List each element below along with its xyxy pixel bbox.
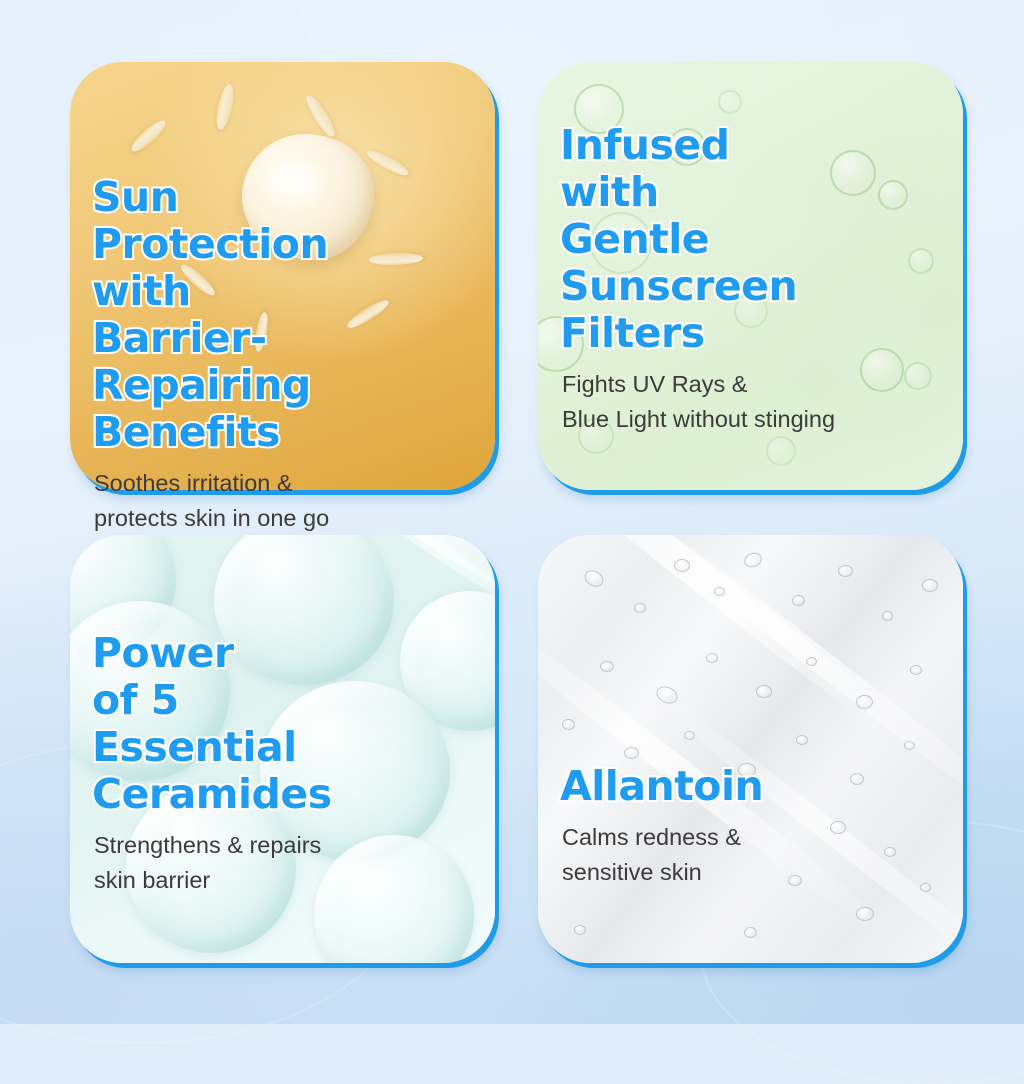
feature-card-grid: Sun Protection with Barrier-Repairing Be… — [0, 0, 1024, 1024]
card-text-block: Allantoin Calms redness & sensitive skin — [560, 763, 943, 890]
card-face — [538, 535, 963, 963]
card-text-block: Sun Protection with Barrier-Repairing Be… — [92, 174, 475, 536]
bubble-icon — [766, 436, 796, 466]
droplet-icon — [856, 695, 873, 709]
droplet-icon — [922, 579, 938, 592]
droplet-icon — [634, 603, 646, 613]
feature-card-sun-protection[interactable]: Sun Protection with Barrier-Repairing Be… — [70, 62, 495, 490]
bubble-icon — [718, 90, 742, 114]
card-subline: Soothes irritation & protects skin in on… — [94, 466, 475, 536]
droplet-icon — [742, 550, 764, 569]
feature-card-ceramides[interactable]: Power of 5 Essential Ceramides Strengthe… — [70, 535, 495, 963]
droplet-icon — [910, 665, 922, 675]
droplet-icon — [624, 747, 639, 759]
droplet-icon — [792, 595, 805, 606]
gel-streak — [538, 535, 932, 762]
card-headline: Infused with Gentle Sunscreen Filters — [560, 122, 943, 357]
card-headline: Power of 5 Essential Ceramides — [92, 630, 475, 818]
droplet-icon — [856, 907, 874, 921]
card-subline: Calms redness & sensitive skin — [562, 820, 943, 890]
feature-card-allantoin[interactable]: Allantoin Calms redness & sensitive skin — [538, 535, 963, 963]
droplet-icon — [806, 657, 817, 666]
droplet-icon — [744, 927, 757, 938]
droplet-icon — [582, 567, 607, 590]
droplet-icon — [706, 653, 718, 663]
cream-ray-icon — [128, 116, 169, 155]
droplet-icon — [574, 925, 586, 935]
cream-ray-icon — [302, 92, 338, 140]
card-headline: Allantoin — [560, 763, 943, 810]
card-subline: Fights UV Rays & Blue Light without stin… — [562, 367, 943, 437]
droplet-icon — [714, 587, 725, 596]
droplet-icon — [684, 731, 695, 740]
droplet-icon — [756, 685, 772, 698]
droplet-icon — [882, 611, 893, 621]
card-subline: Strengthens & repairs skin barrier — [94, 828, 475, 898]
droplet-icon — [838, 565, 853, 577]
card-text-block: Power of 5 Essential Ceramides Strengthe… — [92, 630, 475, 898]
feature-card-gentle-filters[interactable]: Infused with Gentle Sunscreen Filters Fi… — [538, 62, 963, 490]
infographic-canvas: Sun Protection with Barrier-Repairing Be… — [0, 0, 1024, 1024]
droplet-icon — [796, 735, 808, 745]
droplet-icon — [562, 719, 575, 730]
clear-gel-texture — [538, 535, 963, 963]
droplet-icon — [674, 559, 690, 572]
card-text-block: Infused with Gentle Sunscreen Filters Fi… — [560, 122, 943, 437]
card-headline: Sun Protection with Barrier-Repairing Be… — [92, 174, 475, 456]
droplet-icon — [600, 661, 614, 672]
cream-ray-icon — [213, 83, 236, 131]
droplet-icon — [904, 741, 915, 750]
